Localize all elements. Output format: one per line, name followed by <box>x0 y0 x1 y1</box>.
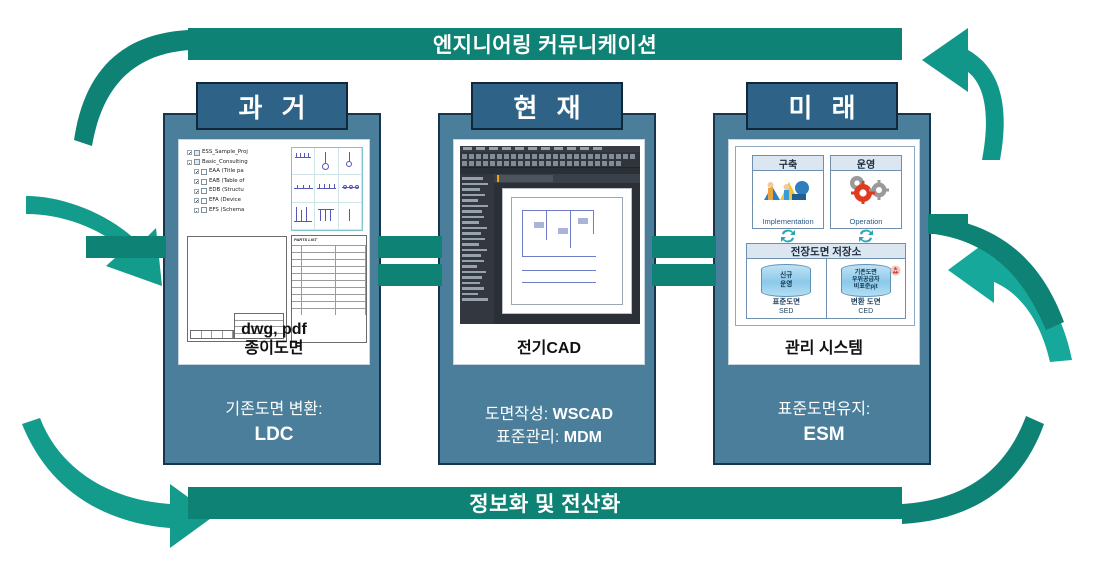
connector-present-future-a <box>652 236 716 258</box>
symbol-cell <box>315 203 338 230</box>
operation-gears-icon <box>840 174 892 204</box>
tree-item[interactable]: EDB (Structu <box>187 186 291 196</box>
future-footer-label: 표준도면유지: <box>778 401 871 418</box>
past-caption-line2: 종이도면 <box>179 339 369 358</box>
management-system-diagram: 구축 Implementation <box>735 146 915 326</box>
build-box-title: 구축 <box>753 156 823 171</box>
column-past: 과 거 ESS_Sample_Proj Basic_Consulting E <box>163 113 381 465</box>
sync-arrows-left-icon <box>780 229 796 243</box>
store-standard-code: SED <box>779 308 793 315</box>
past-footer-label: 기존도면 변환: <box>225 401 322 418</box>
tree-item[interactable]: EFS (Schema <box>187 206 291 216</box>
connector-past-present-a <box>378 236 442 258</box>
connector-past-present-b <box>378 264 442 286</box>
symbol-cell <box>339 203 362 230</box>
sync-arrows-right-icon <box>858 229 874 243</box>
table-row <box>292 266 366 273</box>
folder-icon <box>194 159 200 165</box>
operate-box-title: 운영 <box>831 156 901 171</box>
collapse-minus-icon[interactable] <box>194 208 199 213</box>
table-row <box>292 301 366 308</box>
connector-right-outer <box>928 214 968 234</box>
past-caption-line1: dwg, pdf <box>179 320 369 339</box>
table-row <box>292 287 366 294</box>
future-card-caption: 관리 시스템 <box>729 339 919 358</box>
cad-application-screenshot <box>460 146 640 324</box>
implementation-icon <box>762 174 814 204</box>
expand-plus-icon[interactable] <box>194 198 199 203</box>
table-row <box>292 252 366 259</box>
symbol-thumbnail-grid <box>291 147 363 231</box>
future-footer-code: ESM <box>728 421 920 449</box>
cad-toolbar <box>460 152 640 168</box>
operate-box-caption: Operation <box>831 217 901 226</box>
tree-item-label: ESS_Sample_Proj <box>202 148 248 158</box>
past-footer: 기존도면 변환: LDC <box>178 398 370 449</box>
present-footer-row: 표준관리: MDM <box>453 426 645 449</box>
page-icon <box>201 207 207 213</box>
column-future: 미 래 구축 <box>713 113 931 465</box>
repository-title: 전장도면 저장소 <box>746 243 906 259</box>
connector-present-future-b <box>652 264 716 286</box>
future-footer: 표준도면유지: ESM <box>728 398 920 449</box>
store-standard-label: 표준도면 <box>747 297 826 306</box>
arrow-right-middle <box>948 236 1072 362</box>
bottom-banner: 정보화 및 전산화 <box>188 487 902 519</box>
symbol-cell <box>292 175 315 202</box>
symbol-cell <box>339 175 362 202</box>
project-tree: ESS_Sample_Proj Basic_Consulting EAA (Ti… <box>187 148 291 215</box>
expand-plus-icon[interactable] <box>187 150 192 155</box>
store-converted-caption: 변환 도면 CED <box>827 297 906 316</box>
column-present: 현 재 <box>438 113 656 465</box>
page-icon <box>201 188 207 194</box>
repository-body: 신규 운영 표준도면 SED 기존도면 우위공급자 비표준pjt <box>746 259 906 319</box>
column-header-future: 미 래 <box>746 82 898 130</box>
tree-item-label: EAA (Title pa <box>209 167 244 177</box>
expand-plus-icon[interactable] <box>194 179 199 184</box>
parts-list-title: PARTS LIST <box>292 236 366 243</box>
table-row <box>292 259 366 266</box>
page-icon <box>201 169 207 175</box>
tree-item-label: Basic_Consulting <box>202 158 248 168</box>
cad-drawing-page <box>502 188 632 314</box>
present-footer-label-1: 도면작성: <box>485 406 548 423</box>
store-standard-caption: 표준도면 SED <box>747 297 826 316</box>
cylinder-line-3: 비표준pjt <box>842 284 890 291</box>
present-caption-line1: 전기CAD <box>454 339 644 358</box>
tree-item-label: EAB (Table of <box>209 177 244 187</box>
store-converted-code: CED <box>858 308 873 315</box>
store-converted-label: 변환 도면 <box>827 297 906 306</box>
cylinder-line-1: 기존도면 <box>842 270 890 277</box>
cad-project-tree <box>460 174 494 324</box>
top-banner: 엔지니어링 커뮤니케이션 <box>188 28 902 60</box>
present-footer-code-2: MDM <box>564 429 602 446</box>
cad-drawing-border <box>511 197 623 305</box>
future-preview-card: 구축 Implementation <box>728 139 920 365</box>
tree-item[interactable]: EAB (Table of <box>187 177 291 187</box>
cad-document-tab[interactable] <box>494 174 640 183</box>
table-row <box>292 308 366 315</box>
table-row <box>292 273 366 280</box>
symbol-cell <box>315 175 338 202</box>
table-row <box>292 245 366 252</box>
symbol-cell <box>292 148 315 175</box>
expand-plus-icon[interactable] <box>194 169 199 174</box>
tree-item[interactable]: EAA (Title pa <box>187 167 291 177</box>
table-row <box>292 280 366 287</box>
database-cylinder-icon: 기존도면 우위공급자 비표준pjt <box>841 264 891 297</box>
symbol-cell <box>315 148 338 175</box>
future-caption-line1: 관리 시스템 <box>729 339 919 358</box>
column-header-past: 과 거 <box>196 82 348 130</box>
expand-plus-icon[interactable] <box>194 189 199 194</box>
cylinder-line-1: 신규 <box>762 272 810 280</box>
build-box: 구축 Implementation <box>752 155 824 229</box>
symbol-cell <box>339 148 362 175</box>
arrow-top-right <box>922 28 1004 160</box>
cylinder-line-2: 운영 <box>762 281 810 289</box>
present-card-caption: 전기CAD <box>454 339 644 358</box>
tree-item[interactable]: Basic_Consulting <box>187 158 291 168</box>
diagram-canvas: 엔지니어링 커뮤니케이션 과 거 ESS_Sample_Proj Basic_C… <box>0 0 1098 565</box>
tree-item-label: EFS (Schema <box>209 206 244 216</box>
past-preview-card: ESS_Sample_Proj Basic_Consulting EAA (Ti… <box>178 139 370 365</box>
collapse-minus-icon[interactable] <box>187 160 192 165</box>
table-row <box>292 294 366 301</box>
tree-item[interactable]: EFA (Device <box>187 196 291 206</box>
past-card-caption: dwg, pdf 종이도면 <box>179 320 369 358</box>
tree-item[interactable]: ESS_Sample_Proj <box>187 148 291 158</box>
folder-icon <box>194 150 200 156</box>
database-cylinder-icon: 신규 운영 <box>761 264 811 297</box>
symbol-cell <box>292 203 315 230</box>
tree-item-label: EFA (Device <box>209 196 241 206</box>
present-footer-label-2: 표준관리: <box>496 429 559 446</box>
store-standard: 신규 운영 표준도면 SED <box>747 259 826 318</box>
connector-left-outer <box>86 236 166 258</box>
build-box-caption: Implementation <box>753 217 823 226</box>
store-converted: 기존도면 우위공급자 비표준pjt 변환 도면 CED <box>826 259 906 318</box>
page-icon <box>201 198 207 204</box>
present-footer-code-1: WSCAD <box>553 406 613 423</box>
recycle-icon <box>890 265 901 276</box>
tree-item-label: EDB (Structu <box>209 186 244 196</box>
present-footer-row: 도면작성: WSCAD <box>453 403 645 426</box>
column-header-present: 현 재 <box>471 82 623 130</box>
cylinder-line-2: 우위공급자 <box>842 277 890 284</box>
page-icon <box>201 179 207 185</box>
past-footer-code: LDC <box>178 421 370 449</box>
present-footer: 도면작성: WSCAD 표준관리: MDM <box>453 403 645 449</box>
present-preview-card: 전기CAD <box>453 139 645 365</box>
operate-box: 운영 <box>830 155 902 229</box>
